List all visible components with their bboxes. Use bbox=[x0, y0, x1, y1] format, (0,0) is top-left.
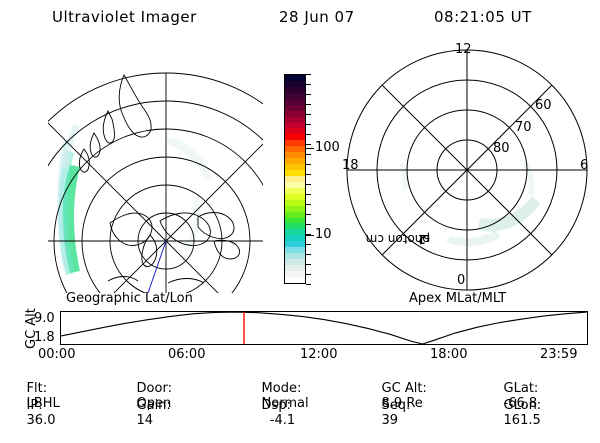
strip-chart-xtick-2359: 23:59 bbox=[540, 347, 577, 362]
colorbar-tick-21 bbox=[306, 284, 311, 285]
colorbar-tick-9 bbox=[306, 164, 311, 165]
status-glon: GLon: 161.5 bbox=[487, 383, 541, 443]
apex-mlat-label-80: 80 bbox=[493, 141, 510, 156]
strip-chart-svg bbox=[61, 312, 587, 344]
aurora-emission-geographic bbox=[57, 123, 213, 275]
strip-chart-xtick-0000: 00:00 bbox=[38, 347, 75, 362]
apex-panel-caption: Apex MLat/MLT bbox=[409, 291, 506, 306]
status-seq-value: 39 bbox=[382, 413, 399, 428]
colorbar-tick-7 bbox=[306, 144, 311, 145]
colorbar-tick-15 bbox=[306, 224, 311, 225]
colorbar-tick-1 bbox=[306, 84, 311, 85]
apex-mlt-label-12: 12 bbox=[455, 42, 472, 57]
uvi-display-window: Ultraviolet Imager 28 Jun 07 08:21:05 UT bbox=[0, 0, 600, 400]
colorbar-tick-17 bbox=[306, 244, 311, 245]
geographic-panel-caption: Geographic Lat/Lon bbox=[66, 291, 193, 306]
colorbar-tick-8 bbox=[306, 154, 311, 155]
gc-altitude-strip-chart[interactable] bbox=[60, 311, 588, 345]
colorbar-tick-13 bbox=[306, 204, 311, 205]
colorbar-tick-5 bbox=[306, 124, 311, 125]
status-dsp-value: -4.1 bbox=[262, 413, 296, 428]
apex-mlt-label-18: 18 bbox=[342, 158, 359, 173]
observation-time: 08:21:05 UT bbox=[434, 8, 532, 26]
colorbar-band-34 bbox=[285, 277, 305, 283]
colorbar-tick-11 bbox=[306, 184, 311, 185]
coastline-outlines bbox=[79, 75, 239, 283]
status-gain: Gain: 14 bbox=[120, 383, 171, 443]
instrument-title: Ultraviolet Imager bbox=[52, 8, 197, 26]
geographic-plot-svg bbox=[48, 45, 263, 293]
status-ip-label: IP: bbox=[27, 398, 43, 413]
status-seq: Seq: 39 bbox=[365, 383, 410, 443]
status-dsp-label: Dsp: bbox=[262, 398, 291, 413]
status-glon-value: 161.5 bbox=[504, 413, 541, 428]
strip-chart-xtick-1800: 18:00 bbox=[430, 347, 467, 362]
colorbar-axis-label: photon cm-2s-1 bbox=[256, 100, 274, 260]
strip-chart-ytick-high: 9.0 bbox=[34, 311, 55, 326]
colorbar-ticks bbox=[306, 74, 314, 284]
colorbar-tick-0 bbox=[306, 74, 311, 75]
status-dsp: Dsp: -4.1 bbox=[245, 383, 295, 443]
colorbar-gradient bbox=[285, 75, 305, 283]
strip-chart-xtick-1200: 12:00 bbox=[300, 347, 337, 362]
colorbar-tick-20 bbox=[306, 274, 311, 275]
colorbar-tick-3 bbox=[306, 104, 311, 105]
apex-mlt-label-0: 0 bbox=[457, 273, 465, 288]
colorbar-tick-12 bbox=[306, 194, 311, 195]
apex-mlat-mlt-panel[interactable]: 12 6 0 18 60 70 80 bbox=[330, 40, 600, 295]
strip-chart-ytick-low: 1.8 bbox=[34, 330, 55, 345]
observation-date: 28 Jun 07 bbox=[279, 8, 355, 26]
apex-mlat-label-70: 70 bbox=[515, 120, 532, 135]
status-ip-value: 36.0 bbox=[27, 413, 56, 428]
status-glon-label: GLon: bbox=[504, 398, 542, 413]
colorbar-major-tick-0 bbox=[306, 148, 314, 149]
status-gain-label: Gain: bbox=[137, 398, 171, 413]
colorbar-tick-18 bbox=[306, 254, 311, 255]
colorbar-tick-6 bbox=[306, 134, 311, 135]
status-ip: IP: 36.0 bbox=[10, 383, 55, 443]
colorbar-tick-19 bbox=[306, 264, 311, 265]
geographic-image-panel[interactable] bbox=[48, 45, 263, 293]
colorbar-tick-4 bbox=[306, 114, 311, 115]
apex-mlat-label-60: 60 bbox=[535, 98, 552, 113]
apex-plot-svg bbox=[330, 40, 600, 295]
colorbar[interactable] bbox=[284, 74, 306, 284]
status-seq-label: Seq: bbox=[382, 398, 411, 413]
colorbar-tick-2 bbox=[306, 94, 311, 95]
colorbar-tick-14 bbox=[306, 214, 311, 215]
apex-mlt-label-6: 6 bbox=[580, 158, 588, 173]
colorbar-major-tick-1 bbox=[306, 235, 314, 236]
colorbar-tick-10 bbox=[306, 174, 311, 175]
gc-altitude-curve bbox=[61, 312, 587, 344]
status-gain-value: 14 bbox=[137, 413, 154, 428]
apex-mlt-spokes bbox=[347, 50, 587, 290]
strip-chart-xtick-0600: 06:00 bbox=[168, 347, 205, 362]
